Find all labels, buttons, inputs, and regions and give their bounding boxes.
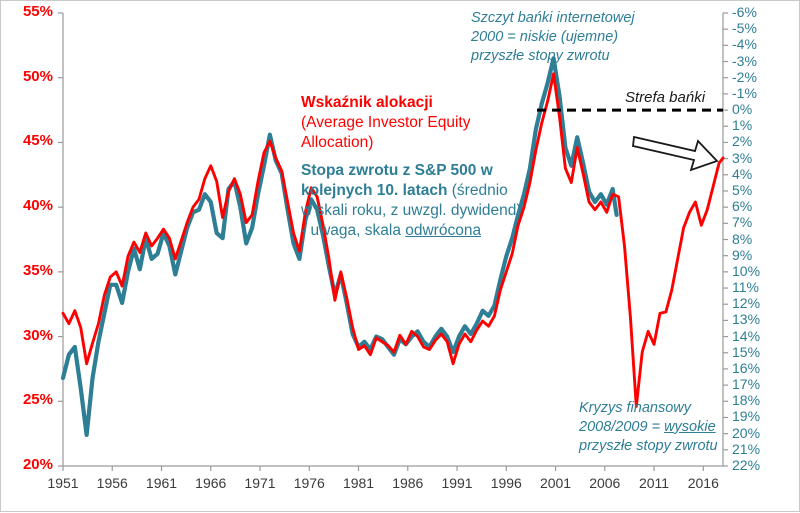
y-tick-right-11: 11%	[732, 279, 759, 295]
bubble-peak-line1: Szczyt bańki internetowej	[471, 9, 635, 28]
y-tick-right-14: 14%	[732, 328, 760, 344]
y-tick-right-17: 17%	[732, 376, 760, 392]
teal-series-label: Stopa zwrotu z S&P 500 w kolejnych 10. l…	[301, 161, 522, 242]
teal-label-line4: - uwaga, skala odwrócona	[301, 221, 522, 241]
y-tick-right-13: 13%	[732, 311, 760, 327]
y-tick-right-8: 8%	[732, 231, 752, 247]
y-tick-right-12: 12%	[732, 295, 760, 311]
financial-crisis-annotation: Kryzys finansowy 2008/2009 = wysokie prz…	[579, 399, 718, 456]
teal-label-line1: Stopa zwrotu z S&P 500 w	[301, 161, 522, 181]
y-tick-right-7: 7%	[732, 214, 752, 230]
teal-label-line2: kolejnych 10. latach (średnio	[301, 181, 522, 201]
bubble-peak-annotation: Szczyt bańki internetowej 2000 = niskie …	[471, 9, 635, 66]
red-label-line3: Allocation)	[301, 133, 470, 153]
y-tick-right-neg6: -6%	[732, 4, 757, 20]
x-tick-1971: 1971	[236, 475, 284, 491]
x-tick-1951: 1951	[39, 475, 87, 491]
y-tick-right-22: 22%	[732, 457, 760, 473]
y-tick-right-2: 2%	[732, 133, 752, 149]
y-tick-right-15: 15%	[732, 344, 760, 360]
y-tick-left-20: 20%	[23, 456, 53, 473]
y-tick-right-18: 18%	[732, 392, 760, 408]
red-label-line2: (Average Investor Equity	[301, 113, 470, 133]
y-tick-right-4: 4%	[732, 166, 752, 182]
red-label-line1: Wskaźnik alokacji	[301, 93, 470, 113]
crisis-line2: 2008/2009 = wysokie	[579, 418, 718, 437]
x-tick-1976: 1976	[285, 475, 333, 491]
x-tick-1996: 1996	[482, 475, 530, 491]
x-tick-1961: 1961	[138, 475, 186, 491]
y-tick-right-1: 1%	[732, 117, 752, 133]
y-tick-left-25: 25%	[23, 391, 53, 408]
y-tick-right-neg4: -4%	[732, 36, 757, 52]
y-tick-right-5: 5%	[732, 182, 752, 198]
callout-arrow-icon	[633, 137, 717, 170]
crisis-line3: przyszłe stopy zwrotu	[579, 437, 718, 456]
red-series-label: Wskaźnik alokacji (Average Investor Equi…	[301, 93, 470, 153]
y-tick-right-9: 9%	[732, 247, 752, 263]
y-tick-right-16: 16%	[732, 360, 760, 376]
bubble-peak-line2: 2000 = niskie (ujemne)	[471, 28, 635, 47]
x-tick-1991: 1991	[433, 475, 481, 491]
x-tick-2001: 2001	[532, 475, 580, 491]
y-tick-right-neg3: -3%	[732, 53, 757, 69]
y-tick-right-21: 21%	[732, 441, 760, 457]
teal-label-line3: w skali roku, z uwzgl. dywidend)	[301, 201, 522, 221]
y-tick-right-0: 0%	[732, 101, 752, 117]
y-tick-right-10: 10%	[732, 263, 760, 279]
y-tick-right-neg5: -5%	[732, 20, 757, 36]
x-tick-2011: 2011	[630, 475, 678, 491]
chart-container: 55%50%45%40%35%30%25%20% -6%-5%-4%-3%-2%…	[0, 0, 800, 512]
y-tick-right-6: 6%	[732, 198, 752, 214]
x-tick-2006: 2006	[581, 475, 629, 491]
x-tick-1986: 1986	[384, 475, 432, 491]
y-tick-right-3: 3%	[732, 150, 752, 166]
y-tick-left-30: 30%	[23, 327, 53, 344]
y-tick-left-45: 45%	[23, 132, 53, 149]
bubble-peak-line3: przyszłe stopy zwrotu	[471, 47, 635, 66]
x-tick-1956: 1956	[88, 475, 136, 491]
y-tick-left-40: 40%	[23, 197, 53, 214]
y-tick-left-50: 50%	[23, 68, 53, 85]
y-tick-left-35: 35%	[23, 262, 53, 279]
y-tick-right-19: 19%	[732, 408, 760, 424]
y-tick-right-20: 20%	[732, 425, 760, 441]
x-tick-2016: 2016	[679, 475, 727, 491]
bubble-zone-label: Strefa bańki	[625, 88, 705, 108]
y-tick-right-neg1: -1%	[732, 85, 757, 101]
y-tick-right-neg2: -2%	[732, 69, 757, 85]
x-tick-1981: 1981	[335, 475, 383, 491]
crisis-line1: Kryzys finansowy	[579, 399, 718, 418]
x-tick-1966: 1966	[187, 475, 235, 491]
y-tick-left-55: 55%	[23, 3, 53, 20]
